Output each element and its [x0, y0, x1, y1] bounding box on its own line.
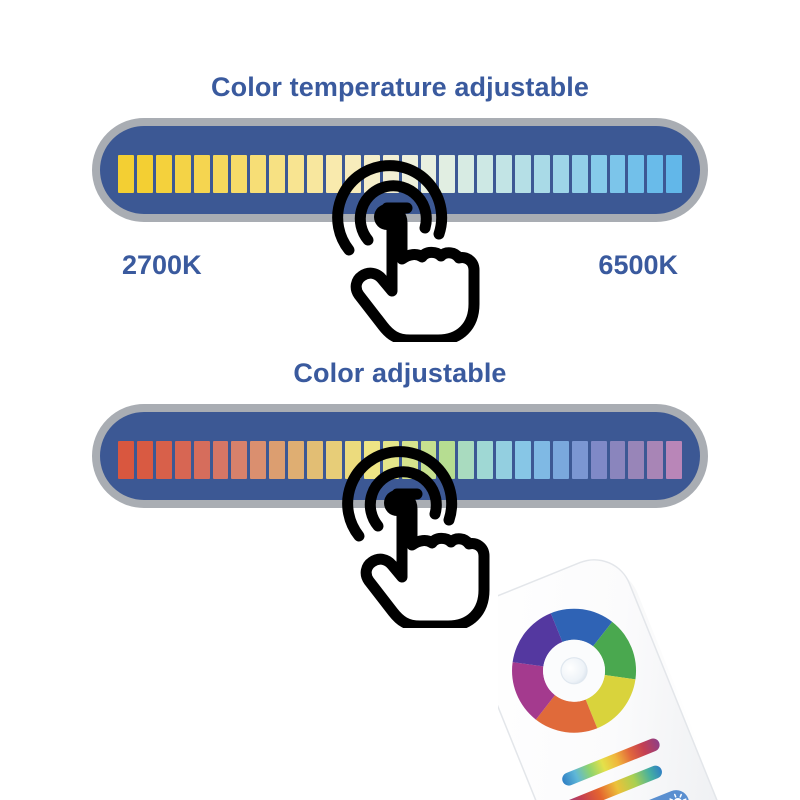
- slider-segment[interactable]: [345, 155, 361, 193]
- slider-segment[interactable]: [477, 155, 493, 193]
- slider-segment[interactable]: [439, 155, 455, 193]
- slider-segment[interactable]: [515, 441, 531, 479]
- color-slider[interactable]: [92, 404, 708, 508]
- slider-segment[interactable]: [553, 155, 569, 193]
- slider-segment[interactable]: [421, 441, 437, 479]
- slider-segment[interactable]: [610, 441, 626, 479]
- color-temperature-max-label: 6500K: [598, 250, 678, 281]
- color-slider-track[interactable]: [118, 441, 682, 479]
- slider-segment[interactable]: [458, 441, 474, 479]
- slider-segment[interactable]: [364, 155, 380, 193]
- slider-segment[interactable]: [496, 155, 512, 193]
- slider-segment[interactable]: [345, 441, 361, 479]
- slider-segment[interactable]: [231, 155, 247, 193]
- slider-segment[interactable]: [326, 155, 342, 193]
- slider-segment[interactable]: [553, 441, 569, 479]
- slider-segment[interactable]: [458, 155, 474, 193]
- slider-segment[interactable]: [628, 441, 644, 479]
- slider-segment[interactable]: [666, 441, 682, 479]
- color-adjustable-title: Color adjustable: [0, 358, 800, 389]
- slider-segment[interactable]: [250, 441, 266, 479]
- slider-segment[interactable]: [591, 155, 607, 193]
- slider-segment[interactable]: [383, 441, 399, 479]
- slider-segment[interactable]: [477, 441, 493, 479]
- slider-segment[interactable]: [194, 441, 210, 479]
- color-temperature-min-label: 2700K: [122, 250, 202, 281]
- slider-segment[interactable]: [250, 155, 266, 193]
- slider-segment[interactable]: [572, 155, 588, 193]
- slider-segment[interactable]: [175, 155, 191, 193]
- slider-segment[interactable]: [647, 155, 663, 193]
- slider-segment[interactable]: [628, 155, 644, 193]
- feature-graphic-canvas: Color temperature adjustable 2700K 6500K…: [0, 0, 800, 800]
- color-temperature-slider[interactable]: [92, 118, 708, 222]
- slider-segment[interactable]: [666, 155, 682, 193]
- slider-segment[interactable]: [610, 155, 626, 193]
- slider-segment[interactable]: [307, 155, 323, 193]
- slider-segment[interactable]: [137, 441, 153, 479]
- slider-segment[interactable]: [194, 155, 210, 193]
- slider-segment[interactable]: [231, 441, 247, 479]
- color-temperature-track[interactable]: [118, 155, 682, 193]
- slider-segment[interactable]: [647, 441, 663, 479]
- slider-segment[interactable]: [572, 441, 588, 479]
- slider-segment[interactable]: [591, 441, 607, 479]
- slider-segment[interactable]: [402, 155, 418, 193]
- slider-segment[interactable]: [288, 441, 304, 479]
- slider-segment[interactable]: [118, 155, 134, 193]
- slider-segment[interactable]: [496, 441, 512, 479]
- slider-segment[interactable]: [137, 155, 153, 193]
- slider-segment[interactable]: [269, 441, 285, 479]
- slider-segment[interactable]: [118, 441, 134, 479]
- slider-segment[interactable]: [364, 441, 380, 479]
- slider-segment[interactable]: [213, 441, 229, 479]
- slider-segment[interactable]: [515, 155, 531, 193]
- color-temperature-title: Color temperature adjustable: [0, 72, 800, 103]
- slider-segment[interactable]: [175, 441, 191, 479]
- slider-segment[interactable]: [269, 155, 285, 193]
- slider-segment[interactable]: [534, 441, 550, 479]
- slider-segment[interactable]: [402, 441, 418, 479]
- slider-segment[interactable]: [213, 155, 229, 193]
- slider-segment[interactable]: [156, 441, 172, 479]
- slider-segment[interactable]: [288, 155, 304, 193]
- slider-segment[interactable]: [307, 441, 323, 479]
- slider-segment[interactable]: [156, 155, 172, 193]
- slider-segment[interactable]: [421, 155, 437, 193]
- slider-segment[interactable]: [534, 155, 550, 193]
- slider-segment[interactable]: [439, 441, 455, 479]
- slider-segment[interactable]: [326, 441, 342, 479]
- slider-segment[interactable]: [383, 155, 399, 193]
- led-remote-control[interactable]: OFF: [498, 536, 800, 800]
